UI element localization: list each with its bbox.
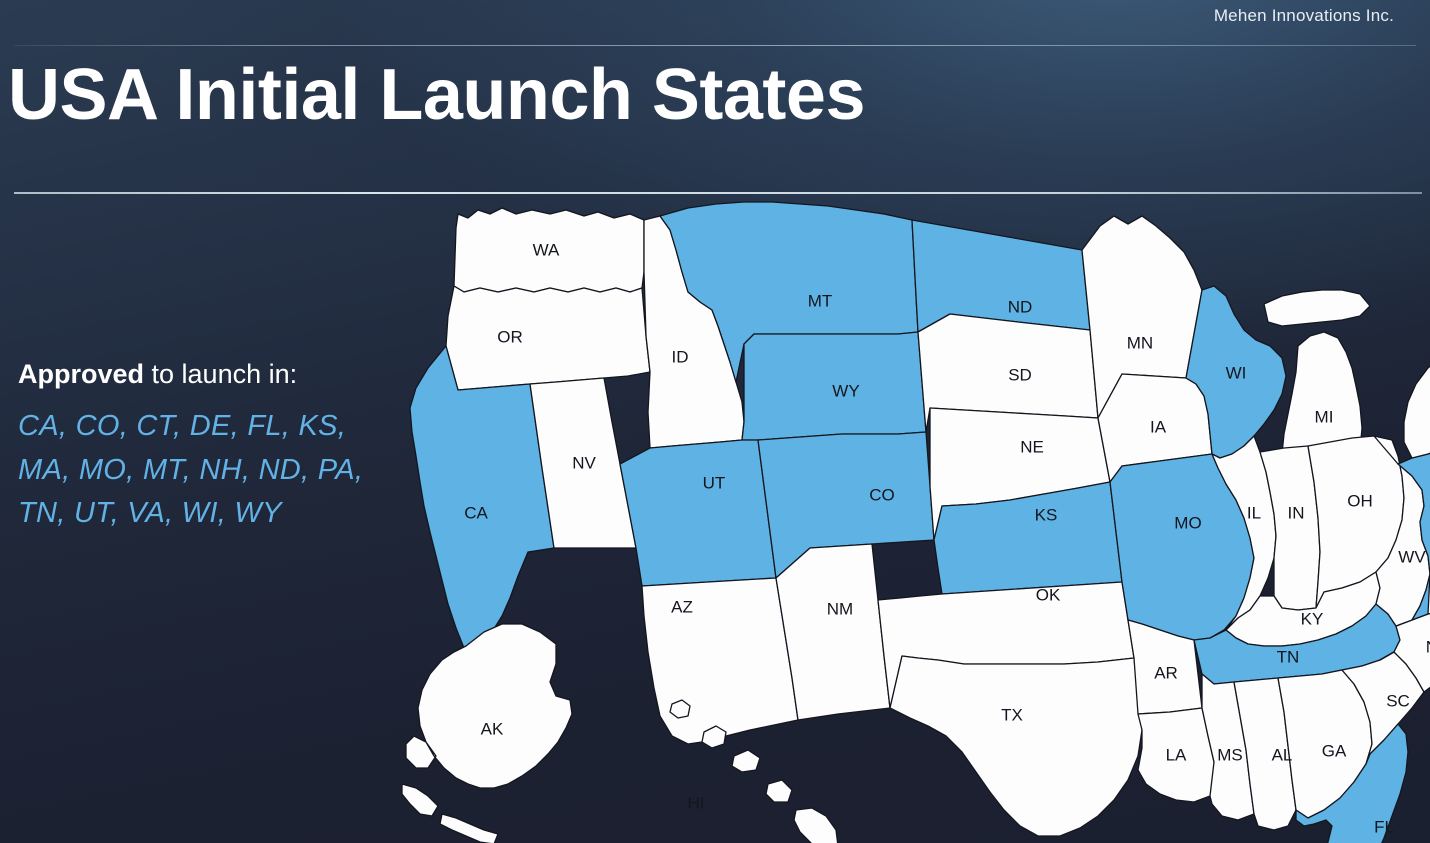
map-label-ID: ID xyxy=(672,347,689,366)
approved-states-list: CA, CO, CT, DE, FL, KS, MA, MO, MT, NH, … xyxy=(18,405,378,536)
map-label-MS: MS xyxy=(1217,745,1243,764)
map-label-FL: FL xyxy=(1374,817,1394,836)
map-label-AR: AR xyxy=(1154,663,1178,682)
map-label-MN: MN xyxy=(1127,333,1153,352)
map-label-CO: CO xyxy=(869,485,895,504)
map-label-OR: OR xyxy=(497,327,523,346)
map-label-NM: NM xyxy=(827,599,853,618)
legend-caption-line: Approved to launch in: xyxy=(18,358,398,391)
slide-canvas: Mehen Innovations Inc. USA Initial Launc… xyxy=(0,0,1430,843)
map-label-ND: ND xyxy=(1008,297,1033,316)
page-title: USA Initial Launch States xyxy=(8,59,865,131)
map-label-NE: NE xyxy=(1020,437,1044,456)
map-label-KS: KS xyxy=(1035,505,1058,524)
map-label-OH: OH xyxy=(1347,491,1373,510)
map-label-NC: NC xyxy=(1426,637,1430,656)
map-label-NV: NV xyxy=(572,453,596,472)
state-shape-TX xyxy=(890,656,1142,836)
header-divider-top xyxy=(14,45,1416,46)
map-label-UT: UT xyxy=(703,473,726,492)
state-shape-OR xyxy=(446,286,650,390)
map-label-IN: IN xyxy=(1288,503,1305,522)
map-label-KY: KY xyxy=(1301,609,1324,628)
map-svg: WA OR CA NV ID MT WY UT AZ CO NM ND SD N… xyxy=(398,196,1430,843)
map-label-CA: CA xyxy=(464,503,488,522)
state-shape-ND xyxy=(912,220,1090,332)
map-label-LA: LA xyxy=(1166,745,1187,764)
usa-choropleth-map[interactable]: WA OR CA NV ID MT WY UT AZ CO NM ND SD N… xyxy=(398,196,1430,843)
state-shape-AZ xyxy=(642,578,798,744)
map-label-TX: TX xyxy=(1001,705,1023,724)
legend-caption: Approved to launch in: CA, CO, CT, DE, F… xyxy=(18,358,398,536)
legend-emphasis: Approved xyxy=(18,359,144,389)
state-shape-NY xyxy=(1404,344,1430,468)
state-shape-UT xyxy=(620,440,776,586)
map-label-OK: OK xyxy=(1036,585,1061,604)
map-label-AL: AL xyxy=(1272,745,1293,764)
map-label-HI: HI xyxy=(688,793,705,812)
map-label-WV: WV xyxy=(1398,547,1426,566)
map-label-AK: AK xyxy=(481,719,504,738)
company-brand-label: Mehen Innovations Inc. xyxy=(1214,6,1394,26)
map-label-WI: WI xyxy=(1226,363,1247,382)
map-label-TN: TN xyxy=(1277,647,1300,666)
map-label-SD: SD xyxy=(1008,365,1032,384)
map-label-SC: SC xyxy=(1386,691,1410,710)
header-divider-bottom xyxy=(14,192,1422,194)
map-label-GA: GA xyxy=(1322,741,1347,760)
legend-caption-rest: to launch in: xyxy=(144,359,297,389)
map-label-IA: IA xyxy=(1150,417,1167,436)
map-label-MT: MT xyxy=(808,291,833,310)
map-label-AZ: AZ xyxy=(671,597,693,616)
map-label-WY: WY xyxy=(832,381,859,400)
map-label-MO: MO xyxy=(1174,513,1201,532)
map-label-WA: WA xyxy=(533,240,560,259)
map-label-IL: IL xyxy=(1247,503,1261,522)
map-label-MI: MI xyxy=(1315,407,1334,426)
